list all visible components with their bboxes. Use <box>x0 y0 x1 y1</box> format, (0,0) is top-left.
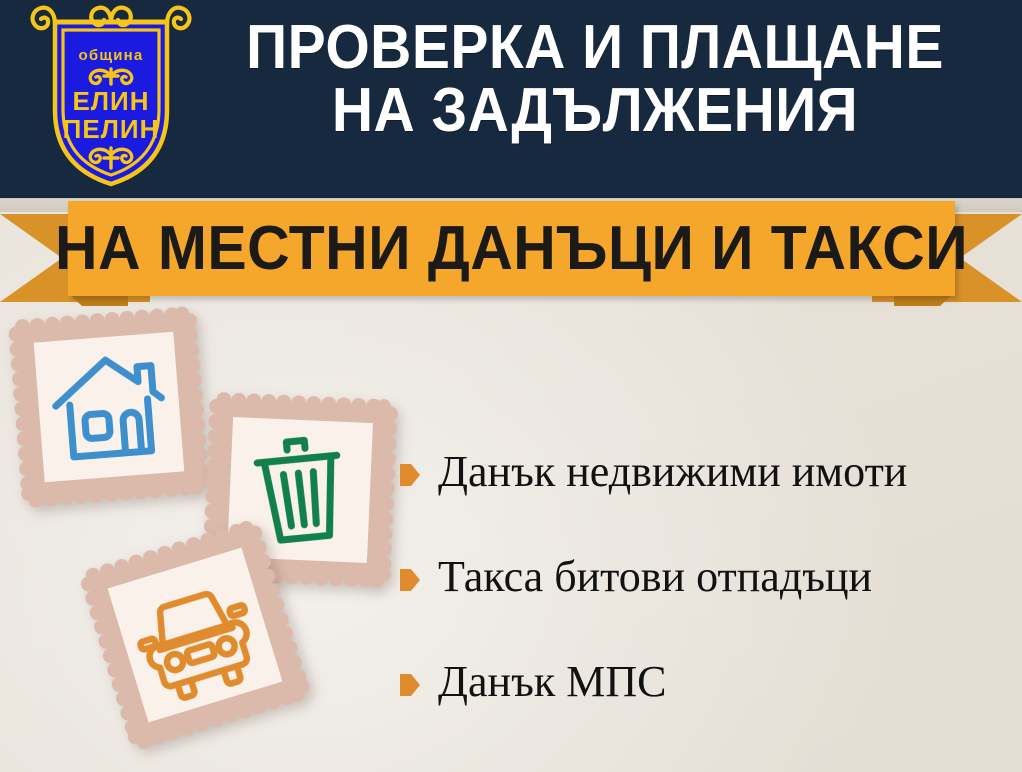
arrow-right-pentagon-icon <box>400 674 420 696</box>
arrow-right-pentagon-icon <box>400 569 420 591</box>
crest-line-top: община <box>79 47 144 64</box>
subtitle-ribbon: НА МЕСТНИ ДАНЪЦИ И ТАКСИ <box>0 198 1022 310</box>
ribbon-banner: НА МЕСТНИ ДАНЪЦИ И ТАКСИ <box>68 201 955 296</box>
tax-type-list: Данък недвижими имоти Такса битови отпад… <box>400 420 1010 735</box>
stamp-border-house <box>7 305 210 508</box>
list-item-label: Данък МПС <box>438 658 666 706</box>
list-item-label: Данък недвижими имоти <box>438 448 907 496</box>
arrow-right-pentagon-icon <box>400 464 420 486</box>
coat-of-arms-shield-icon: община ЕЛИН ПЕЛИН <box>22 0 200 190</box>
list-item[interactable]: Данък недвижими имоти <box>400 420 1010 525</box>
stamp-card-house <box>7 305 211 509</box>
page-title-line-2: НА ЗАДЪЛЖЕНИЯ <box>218 79 972 142</box>
ribbon-text: НА МЕСТНИ ДАНЪЦИ И ТАКСИ <box>55 218 968 280</box>
crest-line-bottom: ПЕЛИН <box>63 114 160 144</box>
poster-root: Данък недвижими имоти Такса битови отпад… <box>0 0 1022 772</box>
list-item[interactable]: Данък МПС <box>400 630 1010 735</box>
list-item-label: Такса битови отпадъци <box>438 553 872 601</box>
list-item[interactable]: Такса битови отпадъци <box>400 525 1010 630</box>
crest-line-mid: ЕЛИН <box>72 86 149 116</box>
page-title: ПРОВЕРКА И ПЛАЩАНЕ НА ЗАДЪЛЖЕНИЯ <box>218 16 972 142</box>
page-title-line-1: ПРОВЕРКА И ПЛАЩАНЕ <box>218 16 972 79</box>
